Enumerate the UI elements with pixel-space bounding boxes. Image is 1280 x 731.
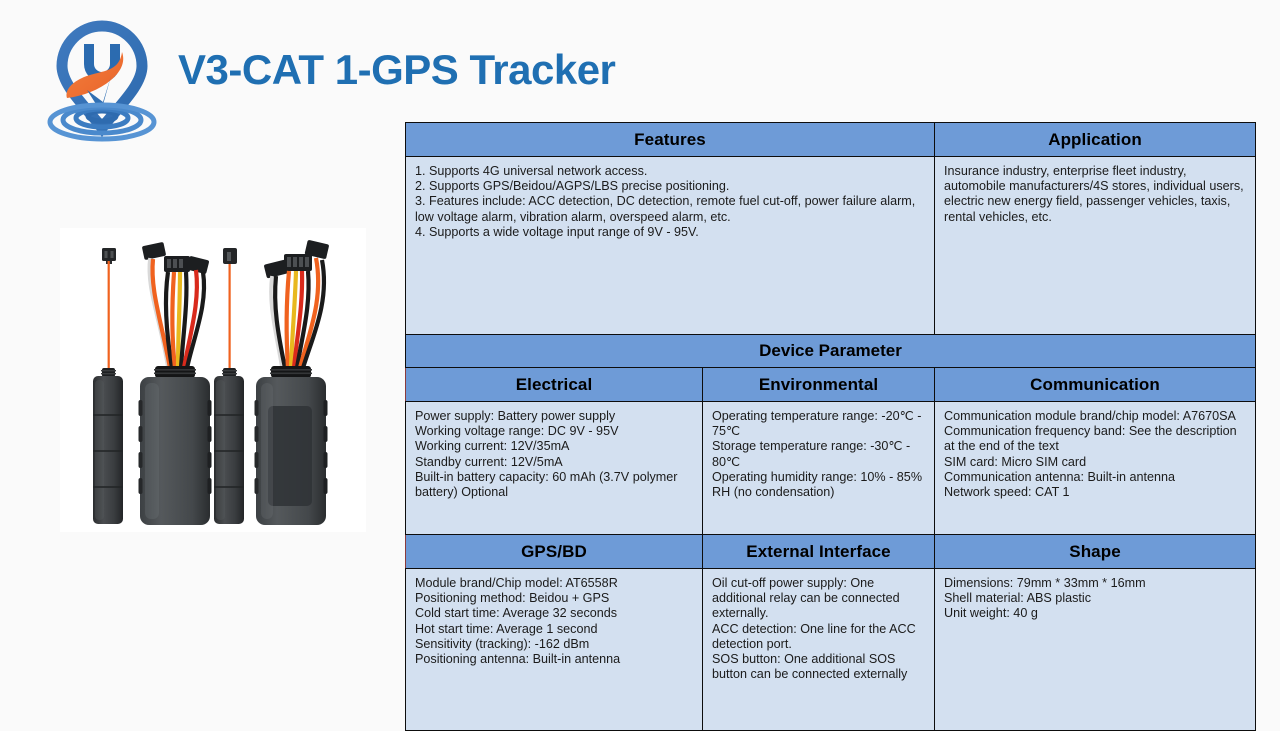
table-row: Power supply: Battery power supply Worki… <box>406 402 1256 535</box>
communication-line: Communication module brand/chip model: A… <box>944 409 1246 424</box>
gps-line: Positioning method: Beidou + GPS <box>415 591 693 606</box>
header-shape: Shape <box>935 535 1256 569</box>
electrical-line: Built-in battery capacity: 60 mAh (3.7V … <box>415 470 693 500</box>
communication-line: Communication antenna: Built-in antenna <box>944 470 1246 485</box>
shape-line: Dimensions: 79mm * 33mm * 16mm <box>944 576 1246 591</box>
communication-line: SIM card: Micro SIM card <box>944 455 1246 470</box>
gps-line: Module brand/Chip model: AT6558R <box>415 576 693 591</box>
gps-line: Cold start time: Average 32 seconds <box>415 606 693 621</box>
table-row: Features Application <box>406 123 1256 157</box>
header-features: Features <box>406 123 935 157</box>
gps-line: Sensitivity (tracking): -162 dBm <box>415 637 693 652</box>
cell-environmental: Operating temperature range: -20℃ - 75℃ … <box>703 402 935 535</box>
electrical-line: Working voltage range: DC 9V - 95V <box>415 424 693 439</box>
cell-communication: Communication module brand/chip model: A… <box>935 402 1256 535</box>
page-title: V3-CAT 1-GPS Tracker <box>178 46 615 94</box>
u-location-pin-logo <box>27 16 177 144</box>
cell-shape: Dimensions: 79mm * 33mm * 16mm Shell mat… <box>935 569 1256 731</box>
external-interface-line: ACC detection: One line for the ACC dete… <box>712 622 925 652</box>
gps-line: Positioning antenna: Built-in antenna <box>415 652 693 667</box>
communication-line: Communication frequency band: See the de… <box>944 424 1246 454</box>
electrical-line: Standby current: 12V/5mA <box>415 455 693 470</box>
header-application: Application <box>935 123 1256 157</box>
table-row: Module brand/Chip model: AT6558R Positio… <box>406 569 1256 731</box>
table-row: 1. Supports 4G universal network access.… <box>406 157 1256 335</box>
cell-gps-bd: Module brand/Chip model: AT6558R Positio… <box>406 569 703 731</box>
external-interface-line: SOS button: One additional SOS button ca… <box>712 652 925 682</box>
header-communication: Communication <box>935 368 1256 402</box>
features-line: 4. Supports a wide voltage input range o… <box>415 225 925 240</box>
header-gps-bd: GPS/BD <box>406 535 703 569</box>
application-line: Insurance industry, enterprise fleet ind… <box>944 164 1246 225</box>
environmental-line: Operating humidity range: 10% - 85% RH (… <box>712 470 925 500</box>
environmental-line: Operating temperature range: -20℃ - 75℃ <box>712 409 925 439</box>
shape-line: Unit weight: 40 g <box>944 606 1246 621</box>
header-device-parameter: Device Parameter <box>406 335 1256 368</box>
shape-line: Shell material: ABS plastic <box>944 591 1246 606</box>
cell-external-interface: Oil cut-off power supply: One additional… <box>703 569 935 731</box>
environmental-line: Storage temperature range: -30℃ - 80℃ <box>712 439 925 469</box>
cell-application: Insurance industry, enterprise fleet ind… <box>935 157 1256 335</box>
product-photo <box>60 228 366 532</box>
external-interface-line: Oil cut-off power supply: One additional… <box>712 576 925 622</box>
table-row: Electrical Environmental Communication <box>406 368 1256 402</box>
header-electrical: Electrical <box>406 368 703 402</box>
cell-features: 1. Supports 4G universal network access.… <box>406 157 935 335</box>
specification-table: Features Application 1. Supports 4G univ… <box>405 122 1256 731</box>
gps-line: Hot start time: Average 1 second <box>415 622 693 637</box>
electrical-line: Working current: 12V/35mA <box>415 439 693 454</box>
cell-electrical: Power supply: Battery power supply Worki… <box>406 402 703 535</box>
communication-line: Network speed: CAT 1 <box>944 485 1246 500</box>
header-external-interface: External Interface <box>703 535 935 569</box>
features-line: 1. Supports 4G universal network access. <box>415 164 925 179</box>
table-row: Device Parameter <box>406 335 1256 368</box>
electrical-line: Power supply: Battery power supply <box>415 409 693 424</box>
table-row: GPS/BD External Interface Shape <box>406 535 1256 569</box>
header-environmental: Environmental <box>703 368 935 402</box>
features-line: 2. Supports GPS/Beidou/AGPS/LBS precise … <box>415 179 925 194</box>
features-line: 3. Features include: ACC detection, DC d… <box>415 194 925 224</box>
